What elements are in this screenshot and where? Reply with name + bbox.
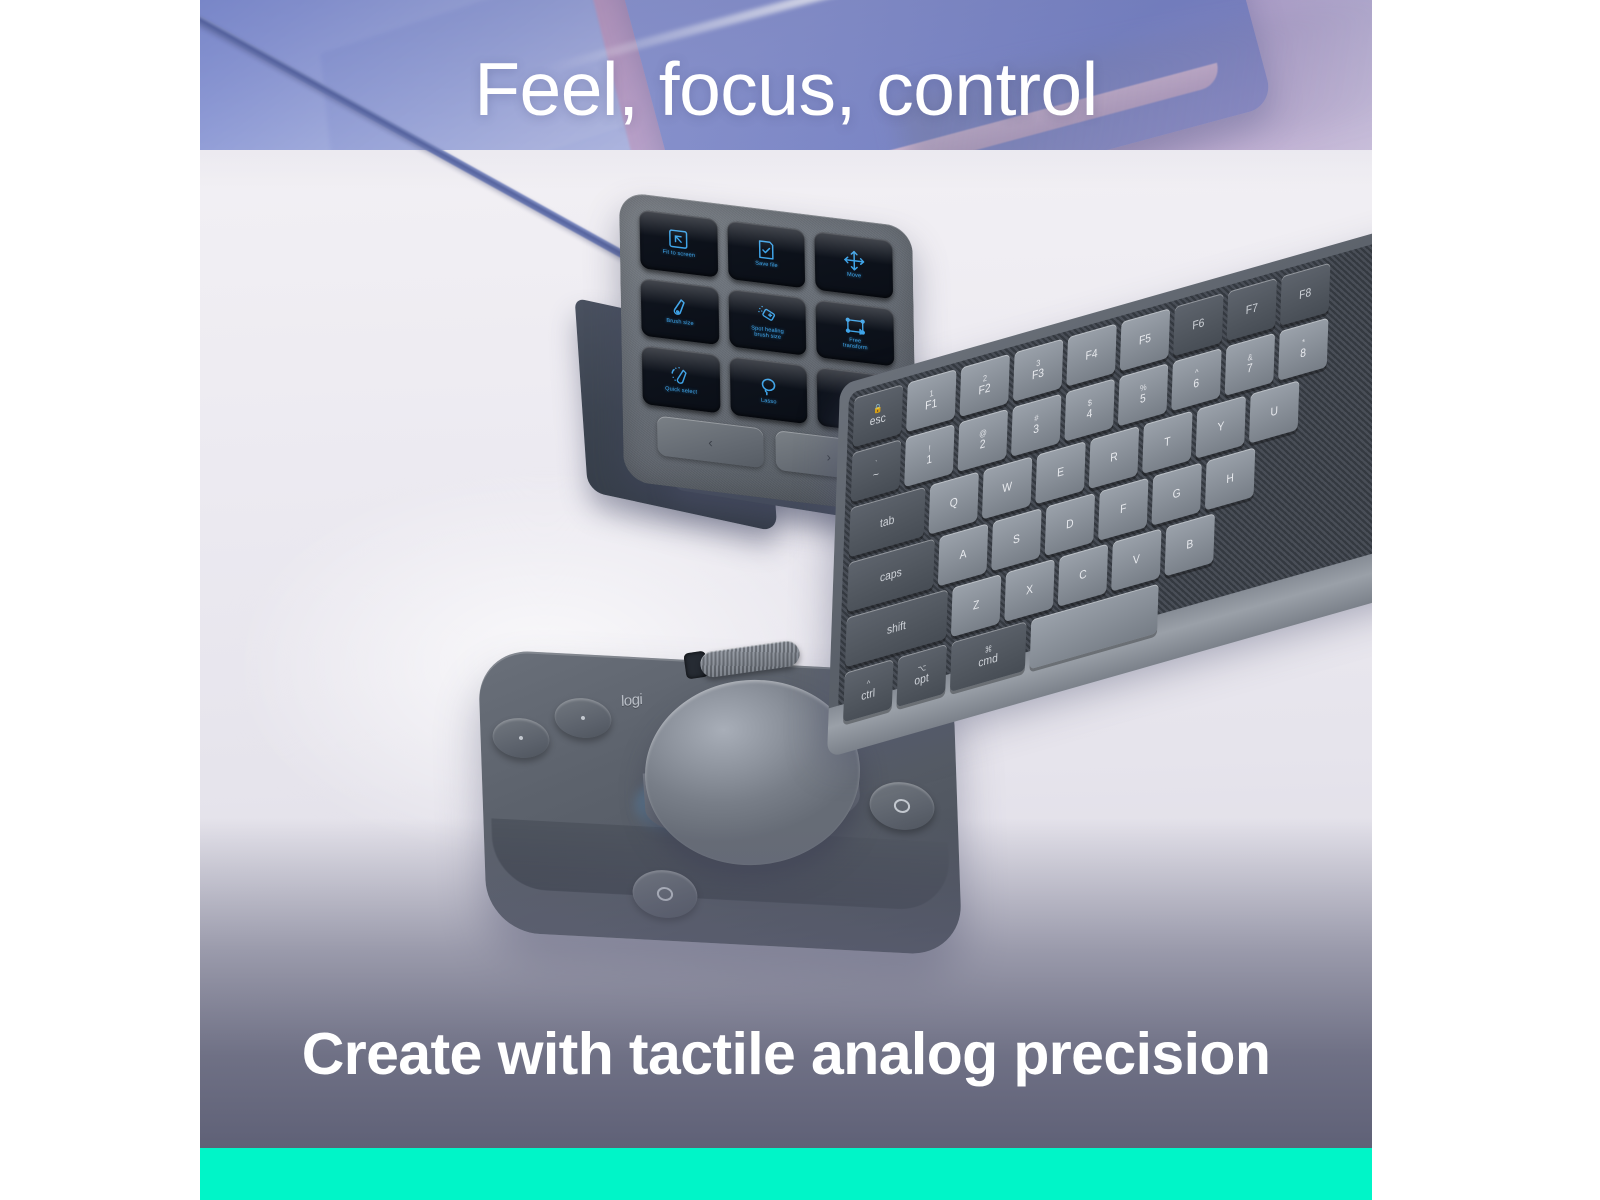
keyboard-key-label: Y bbox=[1217, 420, 1224, 435]
keyboard-key-label: 6 bbox=[1193, 377, 1199, 392]
keyboard-key-q[interactable]: Q bbox=[928, 471, 978, 534]
keyboard-key-6[interactable]: ^6 bbox=[1171, 348, 1221, 411]
keyboard-key-7[interactable]: &7 bbox=[1225, 333, 1275, 396]
keyboard-key-label: F bbox=[1120, 502, 1127, 517]
keyboard-key-t[interactable]: T bbox=[1142, 411, 1192, 474]
keypad-key-label: Spot healing brush size bbox=[751, 326, 784, 342]
keyboard-key-e[interactable]: E bbox=[1035, 441, 1085, 504]
keyboard-key-label: F4 bbox=[1085, 347, 1097, 363]
keyboard-key-u[interactable]: U bbox=[1249, 380, 1299, 443]
keyboard-key-sublabel: ` bbox=[875, 459, 878, 469]
keyboard-key-label: 1 bbox=[926, 453, 932, 468]
keyboard-key-label: tab bbox=[880, 513, 895, 530]
keyboard-key-label: S bbox=[1013, 532, 1020, 547]
keyboard-key-label: ~ bbox=[873, 468, 879, 483]
keypad-key-5[interactable]: Spot healing brush size bbox=[728, 288, 807, 356]
keyboard-key-c[interactable]: C bbox=[1058, 543, 1108, 606]
keyboard-key-label: A bbox=[959, 547, 966, 562]
keypad-key-label: Move bbox=[847, 273, 861, 281]
keyboard-key-s[interactable]: S bbox=[991, 508, 1041, 571]
keyboard-key-label: 8 bbox=[1300, 347, 1306, 362]
keyboard-key-ctrl[interactable]: ^ctrl bbox=[843, 659, 893, 722]
keypad-key-6[interactable]: Free transform bbox=[816, 299, 894, 367]
keyboard-key-label: esc bbox=[869, 412, 886, 430]
keyboard-key-y[interactable]: Y bbox=[1196, 395, 1246, 458]
keyboard-key-label: F8 bbox=[1299, 286, 1311, 302]
dot-icon bbox=[581, 716, 585, 720]
lasso-icon bbox=[757, 374, 780, 399]
keyboard-key-label: T bbox=[1164, 435, 1171, 450]
keyboard-key-sublabel: @ bbox=[979, 428, 987, 440]
keyboard-key-8[interactable]: *8 bbox=[1278, 317, 1328, 380]
keypad-key-label: Lasso bbox=[761, 398, 777, 406]
keypad-key-label: Free transform bbox=[843, 338, 868, 353]
keypad-key-4[interactable]: Brush size bbox=[641, 278, 719, 346]
headline-text: Feel, focus, control bbox=[200, 46, 1372, 132]
keypad-key-3[interactable]: Move bbox=[815, 231, 893, 299]
keyboard-key-sublabel: 1 bbox=[929, 389, 934, 400]
ring-icon bbox=[657, 887, 674, 902]
keyboard-key-label: D bbox=[1066, 517, 1074, 532]
keyboard-key-label: X bbox=[1026, 583, 1033, 598]
brush-size-icon bbox=[668, 295, 691, 320]
keyboard-key-sublabel: * bbox=[1302, 338, 1305, 348]
keyboard-key-opt[interactable]: ⌥opt bbox=[896, 644, 946, 707]
keyboard-key-label: R bbox=[1110, 450, 1118, 465]
keyboard-key-label: shift bbox=[887, 619, 906, 637]
keyboard-key-f[interactable]: F bbox=[1098, 478, 1148, 541]
dialpad-logi-logo: logi bbox=[621, 691, 643, 710]
keyboard-key-g[interactable]: G bbox=[1151, 462, 1201, 525]
keyboard-key-label: W bbox=[1002, 480, 1012, 496]
keypad-key-label: Fit to screen bbox=[663, 250, 696, 260]
keyboard-key-label: 2 bbox=[980, 438, 986, 453]
keyboard-key-label: caps bbox=[880, 566, 902, 585]
keyboard-key-label: C bbox=[1079, 568, 1087, 583]
keyboard-key-label: F3 bbox=[1032, 367, 1044, 383]
keyboard-key-label: F7 bbox=[1246, 301, 1258, 317]
product-photo: Fit to screen Save file Move Brush size … bbox=[200, 0, 1372, 1148]
keyboard-key-3[interactable]: #3 bbox=[1011, 393, 1061, 456]
keyboard-key-label: U bbox=[1270, 404, 1278, 419]
keypad-key-label: Brush size bbox=[666, 319, 694, 328]
keyboard-key-label: H bbox=[1226, 471, 1234, 486]
keyboard-key-label: Z bbox=[973, 598, 980, 613]
save-file-icon bbox=[755, 238, 778, 263]
keyboard-key-d[interactable]: D bbox=[1045, 493, 1095, 556]
keyboard-key-x[interactable]: X bbox=[1004, 559, 1054, 622]
move-icon bbox=[843, 249, 866, 274]
keyboard-key-h[interactable]: H bbox=[1205, 447, 1255, 510]
keyboard-key-2[interactable]: @2 bbox=[958, 409, 1008, 472]
keyboard-key-label: 4 bbox=[1086, 407, 1092, 422]
keyboard-key-a[interactable]: A bbox=[938, 523, 988, 586]
quick-select-icon bbox=[670, 363, 693, 388]
keyboard-key-sublabel: ! bbox=[928, 444, 930, 454]
keyboard-key-~[interactable]: `~ bbox=[851, 439, 901, 502]
keyboard-key-sublabel: 2 bbox=[983, 374, 988, 385]
tagline-text: Create with tactile analog precision bbox=[200, 1020, 1372, 1088]
keyboard-key-w[interactable]: W bbox=[982, 456, 1032, 519]
keyboard-key-label: F2 bbox=[978, 382, 990, 398]
keypad-key-1[interactable]: Fit to screen bbox=[639, 210, 717, 278]
keyboard-key-sublabel: 3 bbox=[1036, 358, 1041, 369]
keyboard-key-sublabel: $ bbox=[1088, 398, 1093, 409]
keyboard-key-label: B bbox=[1186, 537, 1193, 552]
keyboard-key-sublabel: & bbox=[1247, 352, 1252, 363]
keyboard-key-1[interactable]: !1 bbox=[904, 424, 954, 487]
keyboard-key-sublabel: ^ bbox=[867, 679, 871, 689]
keyboard-key-sublabel: # bbox=[1034, 413, 1039, 424]
dot-icon bbox=[519, 736, 523, 740]
keyboard-key-label: 7 bbox=[1247, 362, 1253, 377]
keyboard-key-b[interactable]: B bbox=[1165, 513, 1215, 576]
keyboard-key-sublabel: % bbox=[1140, 383, 1147, 394]
keyboard-key-label: opt bbox=[914, 672, 929, 689]
keyboard-key-label: ctrl bbox=[861, 687, 875, 704]
keyboard-key-label: E bbox=[1057, 465, 1064, 480]
keyboard-key-r[interactable]: R bbox=[1089, 426, 1139, 489]
keyboard-key-label: V bbox=[1133, 553, 1140, 568]
fit-to-screen-icon bbox=[667, 227, 690, 252]
keyboard-key-label: F6 bbox=[1192, 316, 1204, 332]
keyboard-key-z[interactable]: Z bbox=[951, 574, 1001, 637]
brand-accent-bar bbox=[200, 1148, 1372, 1200]
keyboard-key-4[interactable]: $4 bbox=[1064, 378, 1114, 441]
keypad-key-label: Quick select bbox=[665, 387, 697, 397]
keyboard-key-sublabel: ^ bbox=[1195, 368, 1199, 378]
spot-healing-brush-icon bbox=[756, 303, 779, 328]
keyboard-key-label: F1 bbox=[925, 397, 937, 413]
keyboard-key-label: G bbox=[1172, 486, 1180, 501]
keypad-key-2[interactable]: Save file bbox=[727, 220, 806, 288]
free-transform-icon bbox=[844, 314, 867, 339]
keyboard-key-v[interactable]: V bbox=[1111, 528, 1161, 591]
keyboard-key-label: 3 bbox=[1033, 423, 1039, 438]
keyboard-key-label: 5 bbox=[1140, 392, 1146, 407]
keyboard-key-label: Q bbox=[949, 495, 957, 510]
keypad-key-8[interactable]: Lasso bbox=[729, 357, 808, 425]
keyboard-key-5[interactable]: %5 bbox=[1118, 363, 1168, 426]
keypad-key-label: Save file bbox=[755, 262, 778, 271]
keyboard-key-label: F5 bbox=[1139, 332, 1151, 348]
marketing-image: Fit to screen Save file Move Brush size … bbox=[0, 0, 1600, 1200]
keypad-key-7[interactable]: Quick select bbox=[642, 346, 720, 414]
